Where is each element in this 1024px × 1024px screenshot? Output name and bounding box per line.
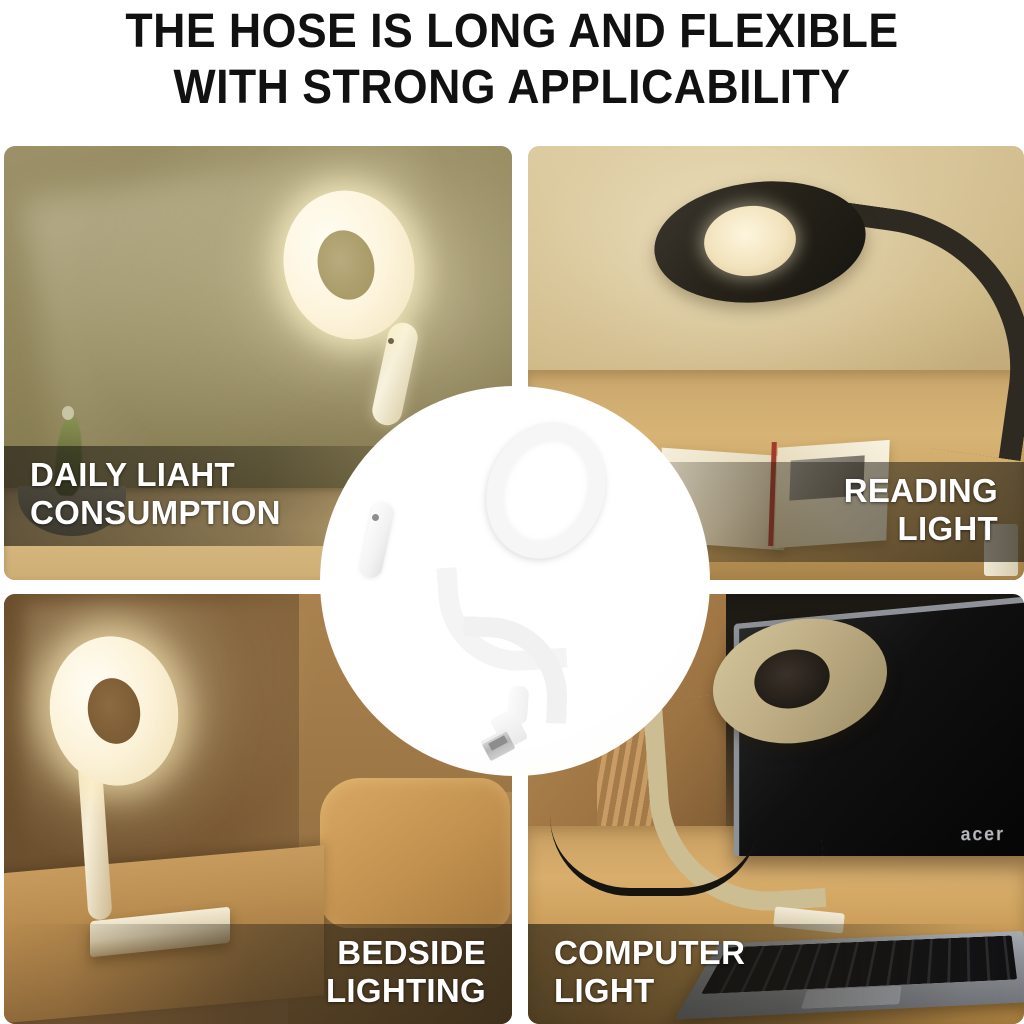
- ring-lamp-black: [654, 182, 884, 322]
- hero-lamp-head: [488, 422, 608, 562]
- lamp-neck-upper: [358, 501, 395, 580]
- panel-caption-bedside-lighting: BEDSIDE LIGHTING: [4, 924, 512, 1024]
- lamp-ring-head: [466, 405, 625, 576]
- page-title-line-2: WITH STRONG APPLICABILITY: [36, 60, 988, 116]
- caption-line-1: BEDSIDE: [4, 934, 486, 972]
- lamp-touch-button: [388, 338, 394, 344]
- page-title-line-1: THE HOSE IS LONG AND FLEXIBLE: [36, 0, 988, 60]
- caption-line-2: LIGHT: [554, 972, 1024, 1010]
- lamp-touch-button: [372, 514, 379, 521]
- caption-line-2: LIGHTING: [4, 972, 486, 1010]
- ring-lamp-white: [276, 186, 476, 416]
- plant-tip: [62, 406, 74, 420]
- lamp-gooseneck: [370, 320, 421, 428]
- hero-product-circle[interactable]: [320, 386, 710, 776]
- caption-line-1: COMPUTER: [554, 934, 1024, 972]
- page-title: THE HOSE IS LONG AND FLEXIBLE WITH STRON…: [0, 0, 1024, 140]
- panel-caption-computer-light: COMPUTER LIGHT: [528, 924, 1024, 1024]
- pillow: [320, 778, 510, 928]
- laptop-brand-logo: acer: [961, 824, 1005, 846]
